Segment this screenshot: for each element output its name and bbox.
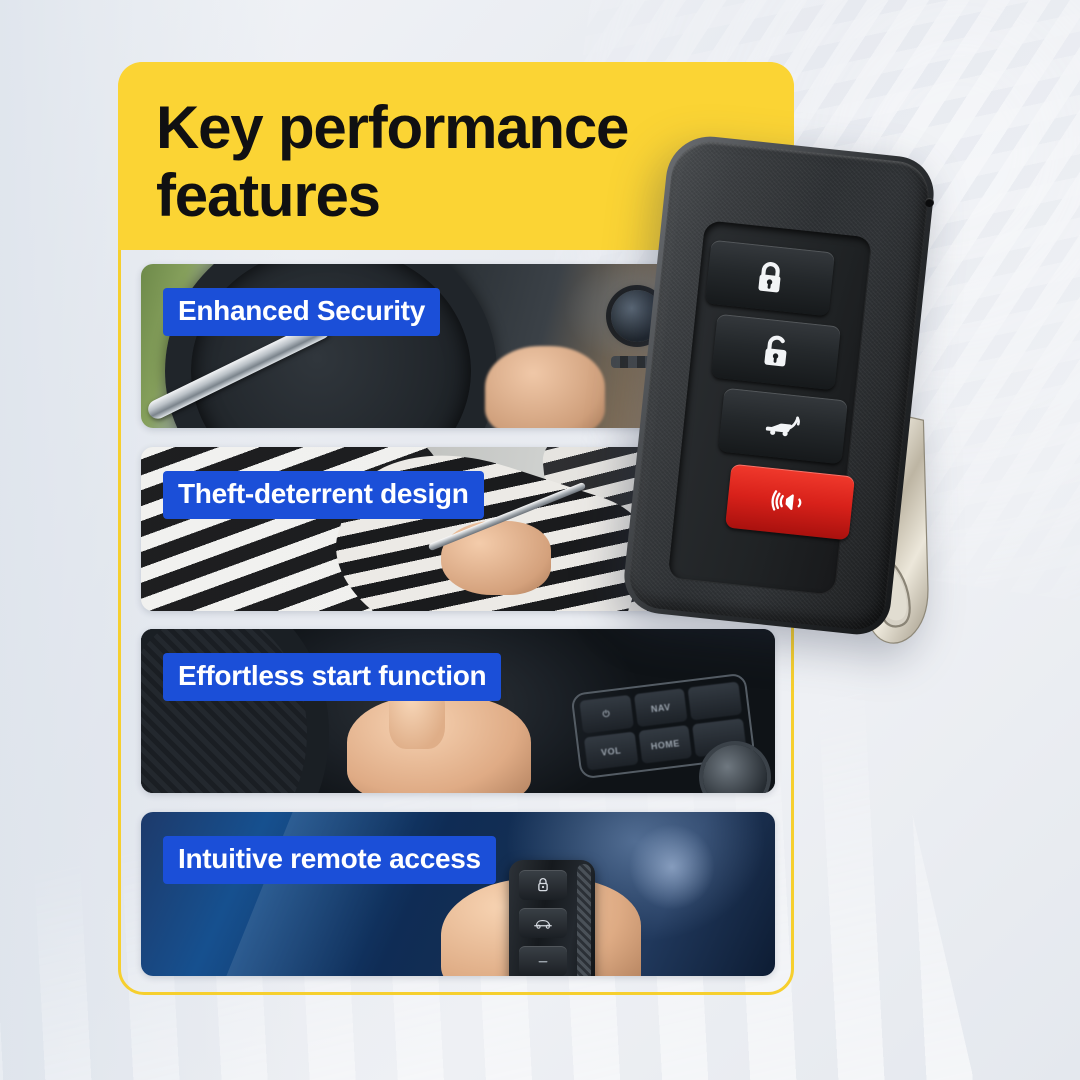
unlock-button[interactable] (711, 314, 841, 391)
light-glow-shape (629, 824, 715, 910)
smart-key-fob (642, 140, 998, 660)
dash-button-vol: VOL (584, 732, 638, 771)
closed-padlock-icon (749, 257, 791, 299)
held-key-fob-shape (509, 860, 595, 976)
open-padlock-icon (755, 331, 797, 373)
dash-button-home: HOME (638, 725, 692, 764)
infographic-canvas: Key performance features Enhanced Securi… (0, 0, 1080, 1080)
feature-badge-label: Intuitive remote access (163, 836, 496, 884)
mini-third-button (519, 946, 567, 976)
panic-button[interactable] (725, 464, 855, 541)
trunk-button[interactable] (718, 388, 848, 465)
led-indicator-dot (925, 198, 935, 208)
feature-item-intuitive-remote-access[interactable]: Intuitive remote access (141, 812, 775, 976)
feature-badge-label: Theft-deterrent design (163, 471, 484, 519)
mini-car-button (519, 908, 567, 938)
driver-hand-shape (485, 346, 605, 428)
horn-sound-waves-icon (769, 481, 811, 523)
power-icon: ⏻ (579, 695, 633, 734)
fob-side-grip-texture (577, 864, 591, 976)
dashboard-dial-icon (703, 745, 767, 793)
dash-button-blank-a (688, 682, 742, 721)
dash-button-nav: NAV (634, 688, 688, 727)
feature-badge-label: Effortless start function (163, 653, 501, 701)
mini-lock-button (519, 870, 567, 900)
feature-badge-label: Enhanced Security (163, 288, 440, 336)
lock-button[interactable] (705, 240, 835, 317)
car-hatch-open-icon (762, 405, 804, 447)
